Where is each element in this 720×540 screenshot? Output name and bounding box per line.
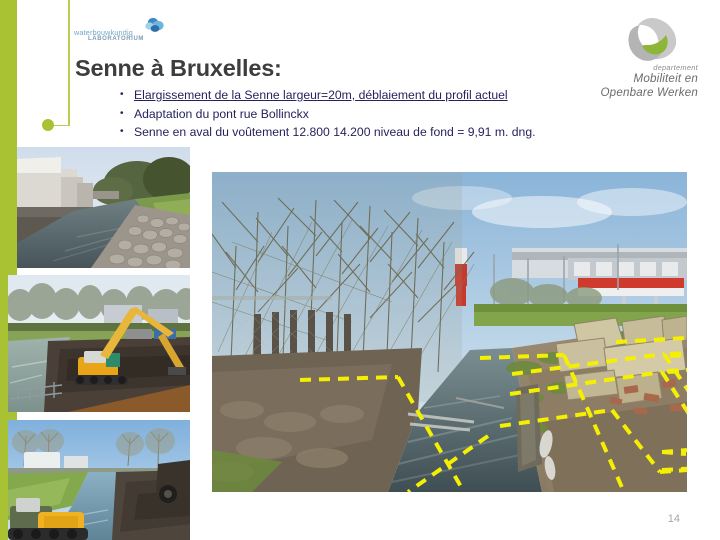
photo-widened-river [8, 420, 190, 540]
bullet-text-3: Senne en aval du voûtement 12.800 14.200… [134, 125, 535, 139]
water-drop-icon [140, 17, 164, 33]
mow-line1: Mobiliteit en [570, 72, 698, 85]
waterbouwkundig-logo: waterbouwkundig LABORATORIUM [74, 17, 184, 47]
slide-root: waterbouwkundig LABORATORIUM departement… [0, 0, 720, 540]
bullet-list: Elargissement de la Senne largeur=20m, d… [118, 86, 638, 142]
bracket-dot [42, 119, 54, 131]
bullet-item-1: Elargissement de la Senne largeur=20m, d… [118, 86, 638, 105]
photo-main-profile-overlay [212, 172, 687, 492]
mow-departement-label: departement [570, 63, 698, 72]
logo-subword: LABORATORIUM [88, 36, 144, 42]
page-title: Senne à Bruxelles: [75, 55, 282, 82]
page-number: 14 [668, 513, 680, 525]
bullet-item-3: Senne en aval du voûtement 12.800 14.200… [118, 123, 638, 142]
photo-excavator-dredging [8, 275, 190, 412]
photo-channel-walls [17, 147, 190, 268]
bracket-vertical-line [68, 0, 70, 126]
bullet-text-1: Elargissement de la Senne largeur=20m, d… [134, 88, 508, 102]
mow-triangle-icon [624, 16, 680, 62]
bullet-text-2: Adaptation du pont rue Bollinckx [134, 107, 309, 121]
bullet-item-2: Adaptation du pont rue Bollinckx [118, 105, 638, 124]
